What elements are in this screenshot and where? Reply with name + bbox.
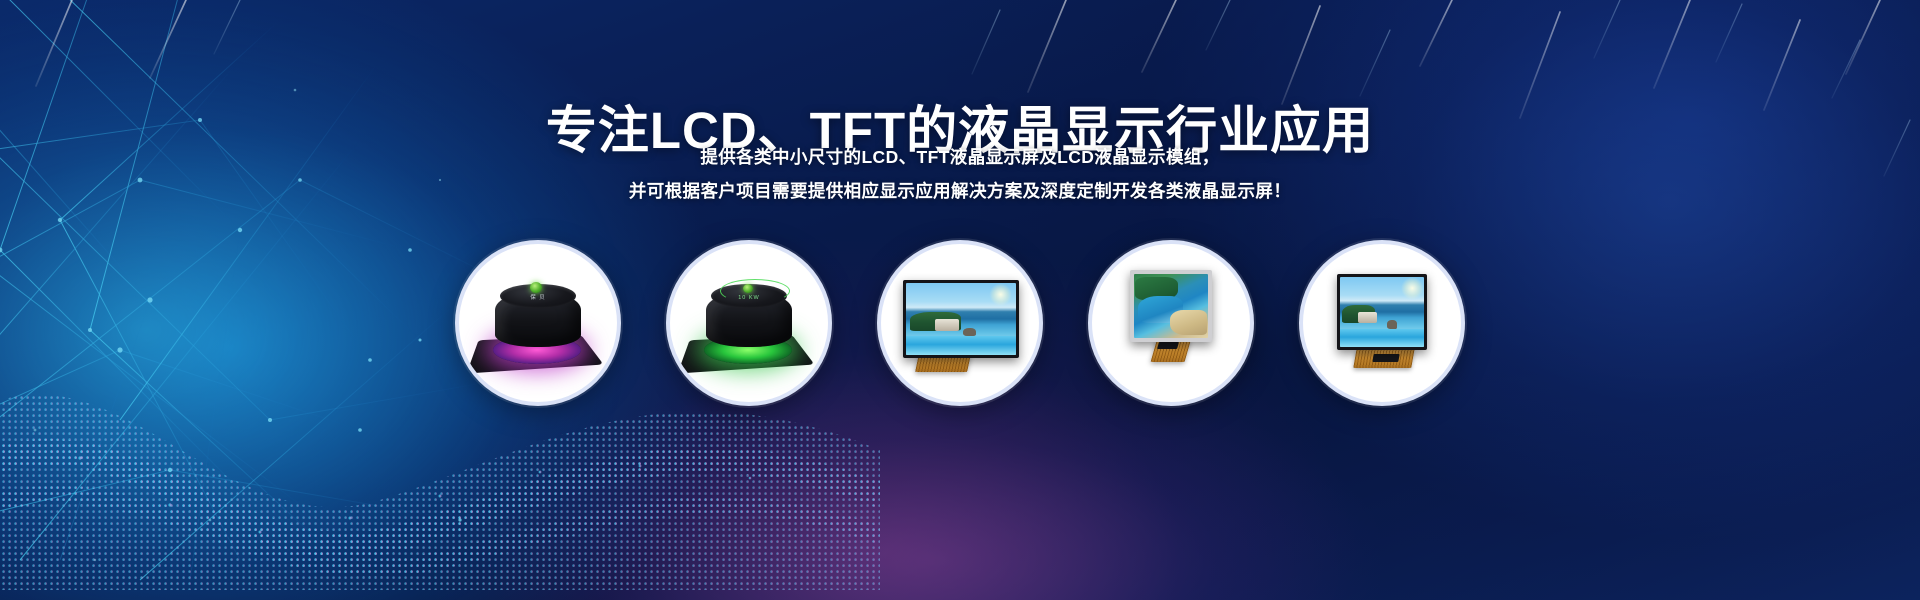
screen-image-beach <box>1340 277 1424 347</box>
lcd-panel-bezel <box>1130 270 1212 342</box>
hero-banner: 专注LCD、TFT的液晶显示行业应用 提供各类中小尺寸的LCD、TFT液晶显示屏… <box>0 0 1920 600</box>
subtitle-line-1: 提供各类中小尺寸的LCD、TFT液晶显示屏及LCD液晶显示模组， <box>0 140 1920 174</box>
product-circle-smart-puck-green-led[interactable]: 10 KW <box>666 240 832 406</box>
screen-image-beach <box>906 283 1016 355</box>
lcd-screen <box>1340 277 1424 347</box>
screen-building <box>935 319 959 331</box>
tft-lcd-wide-panel-image <box>881 244 1039 402</box>
puck-top-face: 保 贝 <box>500 284 576 308</box>
lcd-screen <box>1134 274 1208 338</box>
smart-puck-purple-led-image: 保 贝 <box>459 244 617 402</box>
product-circle-row: 保 贝 10 KW <box>0 240 1920 406</box>
tft-lcd-square-module-image <box>1092 244 1250 402</box>
product-circle-tft-lcd-wide-panel[interactable] <box>877 240 1043 406</box>
puck-indicator-lens <box>530 282 542 293</box>
product-circle-smart-puck-purple-led[interactable]: 保 贝 <box>455 240 621 406</box>
screen-building <box>1358 312 1376 323</box>
screen-image-coast <box>1134 274 1208 338</box>
lcd-panel-bezel <box>1337 274 1427 350</box>
puck-top-face: 10 KW <box>711 284 787 308</box>
product-circle-tft-lcd-panel-fpc[interactable] <box>1299 240 1465 406</box>
puck-display-label: 保 贝 <box>500 293 576 301</box>
screen-sand <box>1170 310 1207 336</box>
banner-subtitle: 提供各类中小尺寸的LCD、TFT液晶显示屏及LCD液晶显示模组， 并可根据客户项… <box>0 140 1920 208</box>
screen-pool <box>1340 329 1424 347</box>
lcd-screen <box>906 283 1016 355</box>
puck-body: 保 贝 <box>495 291 581 347</box>
puck-display-label: 10 KW <box>711 295 787 301</box>
lcd-panel-bezel <box>903 280 1019 358</box>
product-circle-tft-lcd-square-module[interactable] <box>1088 240 1254 406</box>
smart-puck-green-led-image: 10 KW <box>670 244 828 402</box>
screen-rock <box>963 328 976 337</box>
puck-body: 10 KW <box>706 291 792 347</box>
driver-ic-chip <box>1372 354 1399 362</box>
screen-rock <box>1387 320 1397 328</box>
tft-lcd-panel-fpc-image <box>1303 244 1461 402</box>
screen-pool <box>906 336 1016 355</box>
driver-ic-chip <box>1157 342 1179 349</box>
subtitle-line-2: 并可根据客户项目需要提供相应显示应用解决方案及深度定制开发各类液晶显示屏！ <box>0 174 1920 208</box>
puck-indicator-lens <box>743 284 753 293</box>
